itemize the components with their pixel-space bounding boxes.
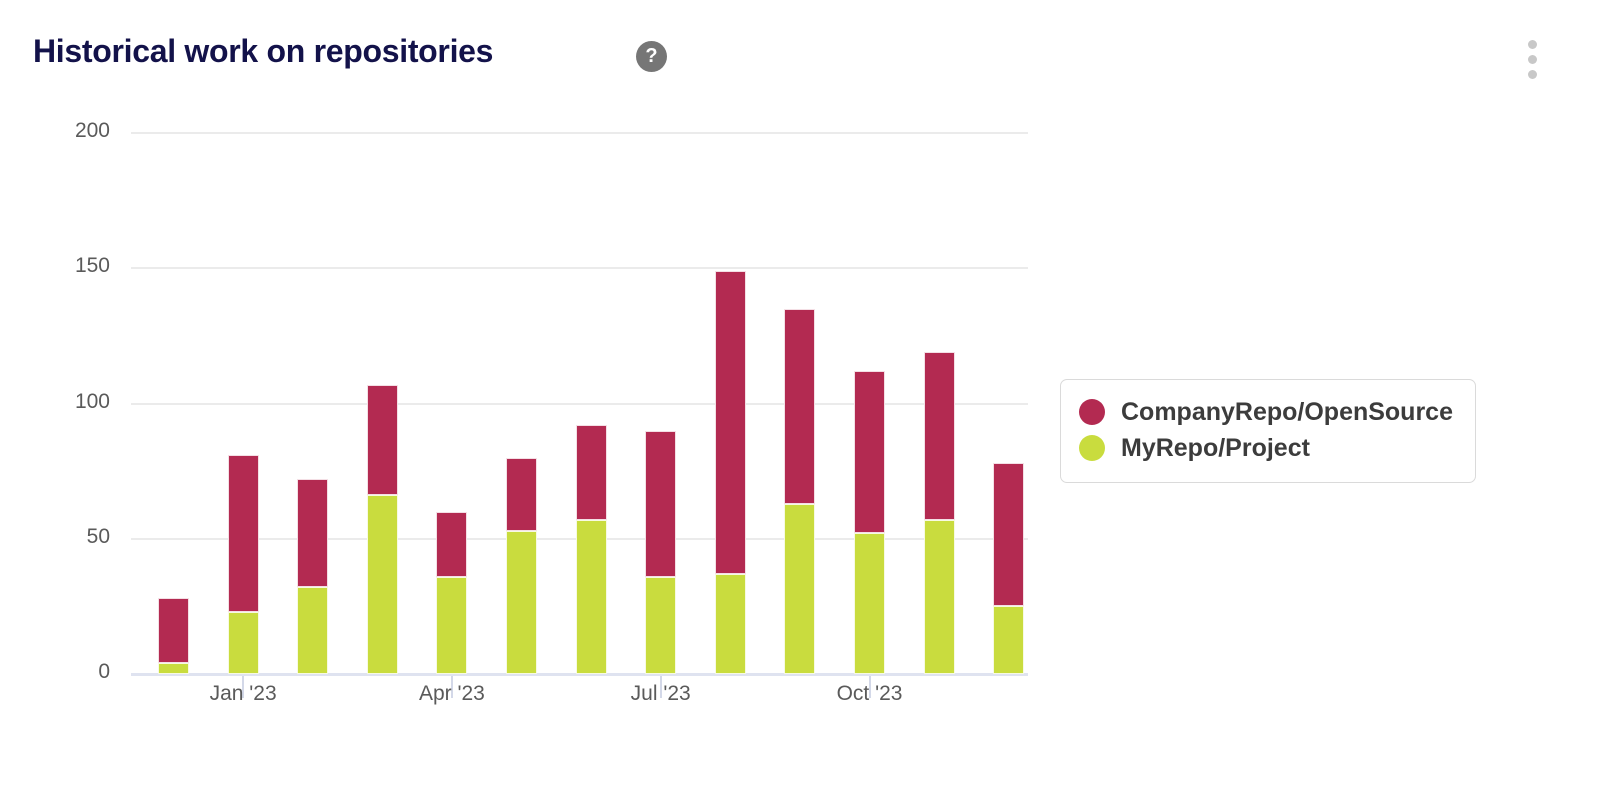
bar-segment-companyrepo[interactable] [576, 425, 607, 520]
bar-segment-myrepo[interactable] [367, 495, 398, 674]
bar-group[interactable] [158, 0, 189, 674]
bar-segment-companyrepo[interactable] [436, 512, 467, 577]
legend-swatch-icon [1079, 435, 1105, 461]
kebab-dot [1528, 55, 1537, 64]
x-axis-tick-label: Jan '23 [210, 682, 277, 706]
y-axis-tick-label: 0 [40, 660, 110, 684]
bar-segment-myrepo[interactable] [854, 533, 885, 674]
bar-group[interactable] [436, 0, 467, 674]
legend-swatch-icon [1079, 399, 1105, 425]
bar-segment-companyrepo[interactable] [645, 431, 676, 577]
bar-segment-companyrepo[interactable] [715, 271, 746, 574]
bar-group[interactable] [228, 0, 259, 674]
kebab-menu-icon[interactable] [1523, 40, 1541, 84]
bar-group[interactable] [924, 0, 955, 674]
kebab-dot [1528, 40, 1537, 49]
legend-item[interactable]: MyRepo/Project [1079, 430, 1453, 466]
bar-group[interactable] [576, 0, 607, 674]
bar-group[interactable] [715, 0, 746, 674]
bar-segment-companyrepo[interactable] [506, 458, 537, 531]
bar-segment-myrepo[interactable] [228, 612, 259, 674]
bar-group[interactable] [645, 0, 676, 674]
bar-segment-companyrepo[interactable] [228, 455, 259, 612]
kebab-dot [1528, 70, 1537, 79]
bar-segment-myrepo[interactable] [924, 520, 955, 674]
bar-segment-myrepo[interactable] [506, 531, 537, 674]
bar-group[interactable] [854, 0, 885, 674]
bar-segment-myrepo[interactable] [784, 504, 815, 674]
bar-group[interactable] [506, 0, 537, 674]
y-axis-tick-label: 150 [40, 254, 110, 278]
y-axis-tick-label: 200 [40, 119, 110, 143]
y-axis-tick-label: 100 [40, 390, 110, 414]
bar-segment-companyrepo[interactable] [297, 479, 328, 587]
bar-segment-companyrepo[interactable] [924, 352, 955, 520]
bar-segment-myrepo[interactable] [158, 663, 189, 674]
chart-plot-area: 050100150200 Jan '23Apr '23Jul '23Oct '2… [0, 0, 1100, 791]
x-axis-tick-label: Jul '23 [631, 682, 691, 706]
legend-item-label: CompanyRepo/OpenSource [1121, 398, 1453, 427]
bar-group[interactable] [993, 0, 1024, 674]
bar-segment-myrepo[interactable] [993, 606, 1024, 674]
legend-item-label: MyRepo/Project [1121, 434, 1310, 463]
chart-legend: CompanyRepo/OpenSourceMyRepo/Project [1060, 379, 1476, 483]
bar-segment-myrepo[interactable] [645, 577, 676, 674]
bar-segment-myrepo[interactable] [576, 520, 607, 674]
legend-item[interactable]: CompanyRepo/OpenSource [1079, 394, 1453, 430]
bar-group[interactable] [784, 0, 815, 674]
bar-segment-companyrepo[interactable] [784, 309, 815, 504]
bar-segment-companyrepo[interactable] [367, 385, 398, 496]
bar-segment-myrepo[interactable] [297, 587, 328, 674]
x-axis-tick-label: Apr '23 [419, 682, 485, 706]
bar-segment-companyrepo[interactable] [993, 463, 1024, 606]
bar-segment-myrepo[interactable] [436, 577, 467, 674]
bar-segment-myrepo[interactable] [715, 574, 746, 674]
chart-card: Historical work on repositories ? 050100… [0, 0, 1600, 791]
bar-segment-companyrepo[interactable] [158, 598, 189, 663]
bar-segment-companyrepo[interactable] [854, 371, 885, 533]
x-axis-tick-label: Oct '23 [837, 682, 903, 706]
bar-group[interactable] [367, 0, 398, 674]
y-axis-tick-label: 50 [40, 525, 110, 549]
bar-group[interactable] [297, 0, 328, 674]
